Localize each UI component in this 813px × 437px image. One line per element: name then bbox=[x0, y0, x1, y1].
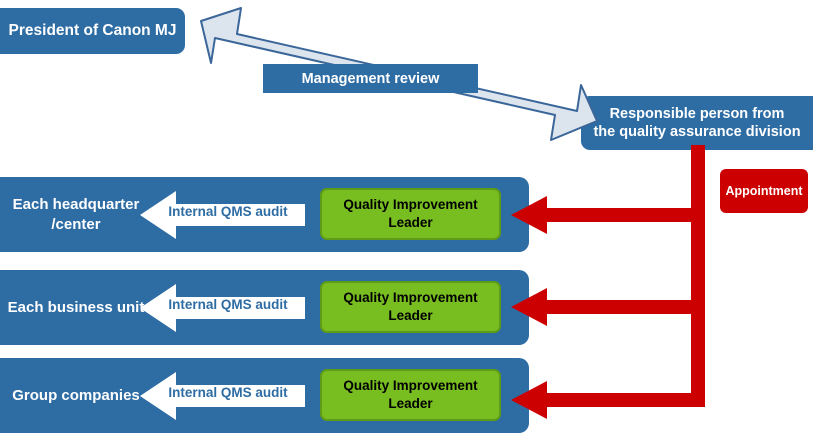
quality-improvement-leader-box: Quality Improvement Leader bbox=[320, 281, 501, 333]
node-president: President of Canon MJ bbox=[0, 8, 185, 54]
president-label: President of Canon MJ bbox=[0, 21, 185, 40]
org-row-group-companies: Group companies Internal QMS audit Quali… bbox=[0, 358, 529, 433]
org-row-business-unit: Each business unit Internal QMS audit Qu… bbox=[0, 270, 529, 345]
org-row-headquarter: Each headquarter /center Internal QMS au… bbox=[0, 177, 529, 252]
quality-improvement-leader-box: Quality Improvement Leader bbox=[320, 188, 501, 240]
org-label-business-unit: Each business unit bbox=[0, 270, 152, 345]
internal-audit-label: Internal QMS audit bbox=[158, 297, 298, 312]
node-responsible-person: Responsible person from the quality assu… bbox=[581, 96, 813, 150]
diagram-canvas: President of Canon MJ Management review … bbox=[0, 0, 813, 437]
internal-audit-label: Internal QMS audit bbox=[158, 385, 298, 400]
appointment-label: Appointment bbox=[725, 184, 802, 198]
quality-improvement-leader-box: Quality Improvement Leader bbox=[320, 369, 501, 421]
org-label-group-companies: Group companies bbox=[0, 358, 152, 433]
node-appointment: Appointment bbox=[720, 169, 808, 213]
responsible-person-label: Responsible person from the quality assu… bbox=[581, 105, 813, 141]
org-label-headquarter: Each headquarter /center bbox=[0, 177, 152, 252]
management-review-text: Management review bbox=[302, 71, 440, 87]
appointment-connector-lines bbox=[505, 145, 720, 420]
management-review-label: Management review bbox=[263, 64, 478, 93]
internal-audit-label: Internal QMS audit bbox=[158, 204, 298, 219]
